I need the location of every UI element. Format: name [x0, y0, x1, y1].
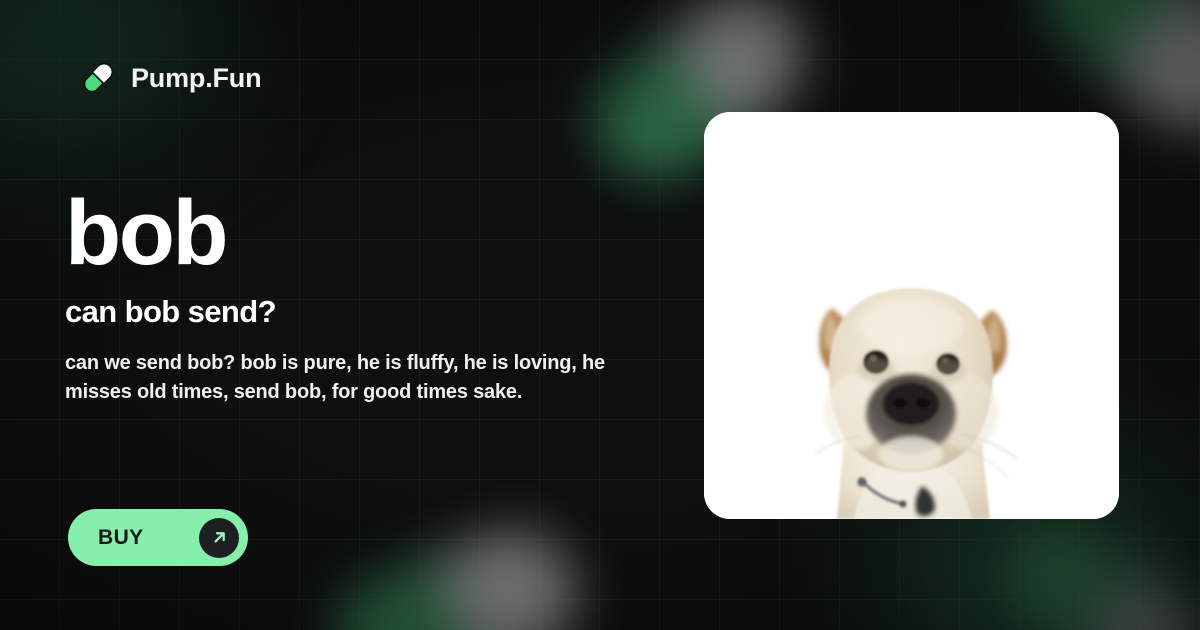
brand-name: Pump.Fun [131, 65, 261, 92]
buy-button-label: BUY [98, 526, 144, 550]
content-layer: Pump.Fun bob can bob send? can we send b… [0, 0, 1200, 630]
brand-header[interactable]: Pump.Fun [78, 58, 261, 98]
hero-subtitle: can bob send? [65, 295, 645, 329]
token-image-card[interactable] [704, 112, 1119, 519]
page-root: Pump.Fun bob can bob send? can we send b… [0, 0, 1200, 630]
page-title: bob [65, 190, 645, 277]
buy-button[interactable]: BUY [68, 509, 248, 566]
pill-capsule-icon [78, 58, 118, 98]
puppy-photo [704, 112, 1119, 519]
hero-description: can we send bob? bob is pure, he is fluf… [65, 349, 625, 407]
hero-section: bob can bob send? can we send bob? bob i… [65, 190, 645, 407]
arrow-up-right-icon [199, 518, 239, 558]
